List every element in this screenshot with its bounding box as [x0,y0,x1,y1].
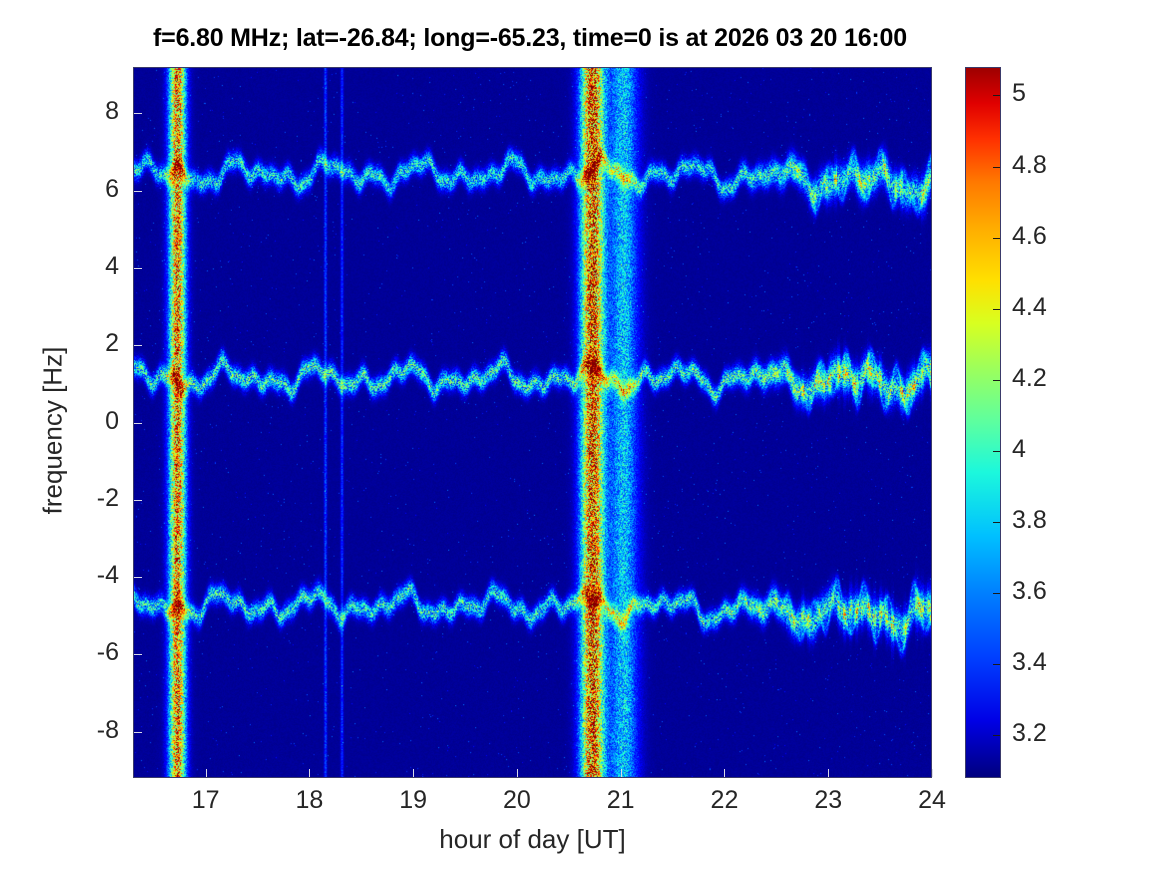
y-tick-mark [134,268,142,269]
x-tick-mark [206,769,207,777]
colorbar-tick-mark [993,95,1000,96]
colorbar-tick-label: 3.4 [1012,648,1047,677]
y-tick-mark [134,191,142,192]
colorbar-tick-label: 4.6 [1012,222,1047,251]
colorbar-tick-mark [993,522,1000,523]
x-tick-label: 22 [711,786,739,815]
y-tick-mark [134,423,142,424]
colorbar[interactable] [965,67,1001,778]
y-tick-mark [134,345,142,346]
x-tick-mark [413,769,414,777]
colorbar-tick-label: 3.6 [1012,577,1047,606]
colorbar-tick-mark [993,451,1000,452]
y-tick-label: 6 [43,175,119,204]
x-tick-mark [517,769,518,777]
y-axis-label: frequency [Hz] [38,271,69,591]
colorbar-tick-label: 3.2 [1012,719,1047,748]
x-tick-label: 18 [295,786,323,815]
x-axis-label: hour of day [UT] [133,824,932,855]
x-tick-label: 21 [607,786,635,815]
figure-canvas: f=6.80 MHz; lat=-26.84; long=-65.23, tim… [0,0,1167,875]
x-tick-mark [828,769,829,777]
y-tick-label: -6 [43,638,119,667]
colorbar-tick-mark [993,238,1000,239]
colorbar-tick-mark [993,380,1000,381]
x-tick-label: 19 [399,786,427,815]
x-tick-mark [724,769,725,777]
y-tick-label: -8 [43,716,119,745]
y-tick-mark [134,500,142,501]
colorbar-tick-mark [993,593,1000,594]
y-tick-label: 8 [43,97,119,126]
colorbar-tick-mark [993,735,1000,736]
colorbar-tick-mark [993,309,1000,310]
y-tick-mark [134,732,142,733]
x-tick-label: 23 [814,786,842,815]
x-tick-label: 17 [192,786,220,815]
colorbar-tick-label: 4.4 [1012,293,1047,322]
colorbar-tick-label: 5 [1012,79,1026,108]
colorbar-tick-label: 4 [1012,435,1026,464]
x-tick-mark [309,769,310,777]
colorbar-tick-mark [993,167,1000,168]
x-tick-mark [932,769,933,777]
colorbar-tick-label: 4.8 [1012,151,1047,180]
x-tick-label: 20 [503,786,531,815]
spectrogram-axes[interactable] [133,67,932,778]
colorbar-tick-mark [993,664,1000,665]
spectrogram-image [134,68,931,777]
x-tick-label: 24 [918,786,946,815]
colorbar-tick-label: 4.2 [1012,364,1047,393]
y-tick-mark [134,113,142,114]
y-tick-mark [134,577,142,578]
page-title: f=6.80 MHz; lat=-26.84; long=-65.23, tim… [0,24,1060,53]
x-tick-mark [621,769,622,777]
colorbar-tick-label: 3.8 [1012,506,1047,535]
y-tick-mark [134,654,142,655]
